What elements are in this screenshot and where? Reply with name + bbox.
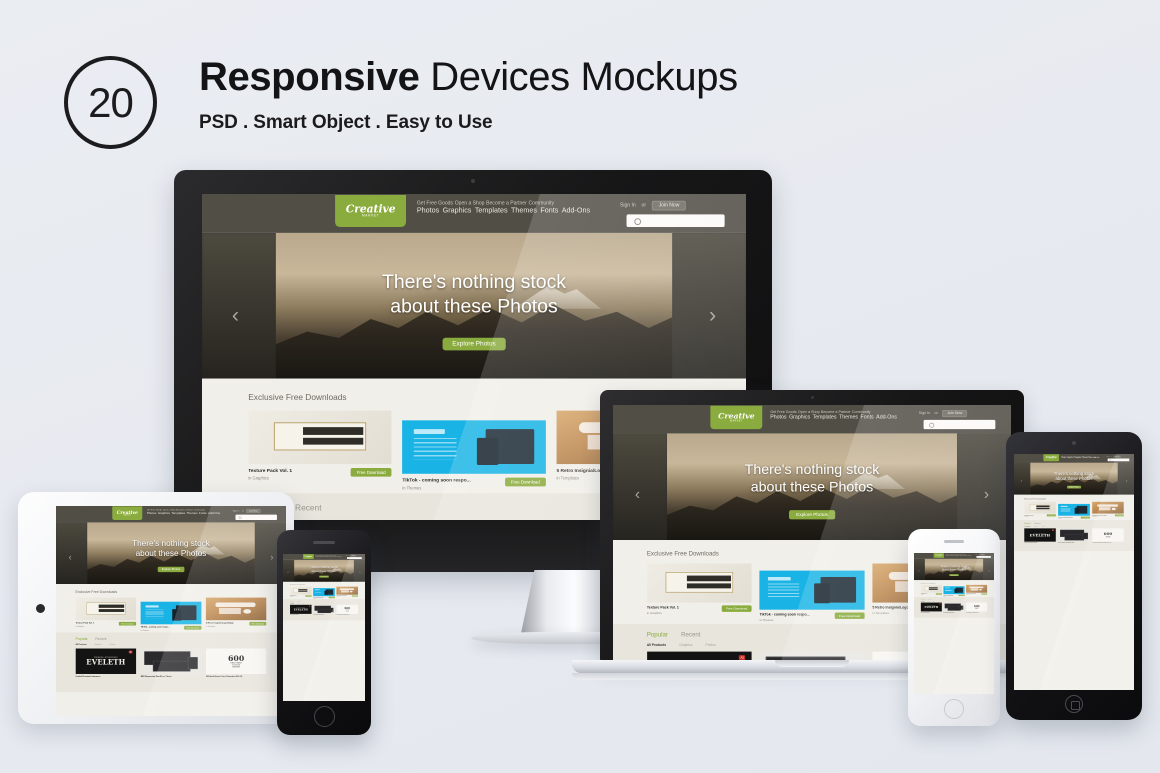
creative-market-logo[interactable]: Creative MARKET: [112, 506, 142, 519]
site-page-iphone-black: Creative MARKET Get Free GoodsOpen a Sho…: [283, 554, 365, 701]
download-card-category: in Themes: [402, 485, 470, 490]
carousel-next-arrow[interactable]: ›: [359, 570, 360, 574]
free-download-button[interactable]: Free Download: [936, 593, 942, 594]
download-card-meta: Texture Pack Vol. 1 in Graphics Free Dow…: [921, 593, 942, 595]
search-input[interactable]: [235, 515, 276, 521]
main-link-2[interactable]: Templates: [171, 511, 185, 515]
main-link-1[interactable]: Graphics: [949, 555, 953, 556]
product-card-title: Eveleth Premium Letterpress: [921, 612, 942, 613]
free-download-button[interactable]: Free Download: [351, 468, 392, 477]
main-link-3[interactable]: Themes: [1082, 457, 1088, 459]
main-link-2[interactable]: Templates: [475, 206, 508, 215]
tiktok-thumb-title: [146, 606, 159, 608]
free-downloads-section: Exclusive Free Downloads Texture Pack Vo…: [921, 582, 987, 596]
main-link-1[interactable]: Graphics: [789, 414, 810, 420]
product-card-title: Eveleth Premium Letterpress: [76, 675, 137, 677]
product-card[interactable]: BRO Responsive WordPress Theme: [1058, 528, 1090, 543]
free-download-button[interactable]: Free Download: [119, 622, 136, 626]
free-download-button[interactable]: Free Download: [959, 595, 965, 596]
main-link-5[interactable]: Add-Ons: [562, 206, 590, 215]
download-card-meta: TikTok - coming soon respo... in Themes …: [402, 478, 545, 490]
free-download-button[interactable]: Free Download: [1081, 517, 1090, 519]
creative-market-logo[interactable]: Creative MARKET: [303, 554, 314, 559]
download-card-meta: Texture Pack Vol. 1 in Graphics Free Dow…: [76, 622, 137, 627]
hero-line-2: about these Photos: [56, 549, 286, 559]
browse-tab-1[interactable]: Recent: [95, 637, 106, 641]
browse-tab-1[interactable]: Recent: [1035, 522, 1041, 524]
page-title-rest: Devices Mockups: [420, 55, 738, 99]
insignia-thumb-amp: [243, 609, 251, 614]
download-card[interactable]: Texture Pack Vol. 1 in Graphics Free Dow…: [921, 585, 942, 597]
main-link-2[interactable]: Templates: [813, 414, 837, 420]
download-card-category: in Graphics: [290, 596, 297, 597]
main-link-1[interactable]: Graphics: [443, 206, 472, 215]
tiktok-thumb-phone: [814, 583, 830, 603]
creative-market-logo[interactable]: Creative MARKET: [711, 406, 763, 429]
main-link-5[interactable]: Add-Ons: [967, 555, 971, 556]
download-card[interactable]: TikTok - coming soon respo... in Themes …: [402, 411, 545, 490]
download-card-name: TikTok - coming soon respo...: [141, 626, 170, 628]
tiktok-thumb-bullets: [315, 591, 321, 594]
product-card-thumb: 600 HAND DRAWNSCURLSSSWASHES: [206, 649, 267, 674]
site-main-links: PhotosGraphicsTemplatesThemesFontsAdd-On…: [147, 511, 213, 515]
hero-banner: There's nothing stock about these Photos…: [914, 559, 994, 580]
download-card-thumb: [76, 598, 137, 621]
free-downloads-section: Exclusive Free Downloads Texture Pack Vo…: [290, 584, 358, 599]
iphone-black-speaker: [313, 541, 335, 544]
download-card-thumb: [921, 585, 942, 593]
tiktok-thumb-bullets: [1061, 508, 1070, 513]
product-card[interactable]: PREMIUM LETTERPRESS EVELETH A2 Eveleth P…: [1024, 528, 1056, 543]
browse-products: PREMIUM LETTERPRESS EVELETH A2 Eveleth P…: [76, 649, 267, 678]
sign-in-link[interactable]: Sign In: [620, 203, 636, 209]
download-card[interactable]: Texture Pack Vol. 1 in Graphics Free Dow…: [290, 587, 312, 599]
download-card[interactable]: TikTok - coming soon respo... in Themes …: [943, 585, 964, 597]
sign-in-link[interactable]: Sign In: [919, 412, 930, 416]
site-body: Exclusive Free Downloads Texture Pack Vo…: [1014, 495, 1134, 551]
browse-filter-2[interactable]: Photos: [706, 643, 716, 647]
download-card-meta: 5 Retro Insignia/Logo Badge in Templates…: [966, 593, 987, 595]
screens-phone: [960, 606, 963, 610]
free-download-button[interactable]: Free Download: [722, 605, 752, 611]
download-card[interactable]: Texture Pack Vol. 1 in Graphics Free Dow…: [1024, 502, 1056, 519]
free-download-button[interactable]: Free Download: [505, 478, 546, 487]
free-downloads-section: Exclusive Free Downloads Texture Pack Vo…: [1024, 498, 1124, 520]
main-link-0[interactable]: Photos: [417, 206, 439, 215]
site-body: Exclusive Free Downloads Texture Pack Vo…: [56, 584, 286, 691]
carousel-prev-arrow[interactable]: ‹: [1021, 478, 1023, 484]
ipad-white: Creative MARKET Get Free GoodsOpen a Sho…: [18, 492, 294, 724]
main-link-1[interactable]: Graphics: [158, 511, 170, 515]
sixhundred-sub: HAND DRAWNSCURLSSSWASHES: [1105, 536, 1111, 539]
main-link-4[interactable]: Fonts: [861, 414, 874, 420]
download-card[interactable]: 5 Retro Insignia/Logo Badge in Templates…: [206, 598, 267, 631]
free-downloads-title: Exclusive Free Downloads: [290, 584, 358, 585]
main-link-4[interactable]: Fonts: [540, 206, 558, 215]
creative-market-logo[interactable]: Creative MARKET: [1043, 454, 1059, 461]
download-card-category: in Themes: [141, 629, 170, 631]
main-link-5[interactable]: Add-Ons: [208, 511, 220, 515]
free-downloads-cards: Texture Pack Vol. 1 in Graphics Free Dow…: [921, 585, 987, 597]
download-card[interactable]: 5 Retro Insignia/Logo Badge in Templates…: [966, 585, 987, 597]
ipad-mini-camera-icon: [1072, 441, 1076, 445]
product-card-thumb: PREMIUM LETTERPRESS EVELETH A2: [76, 649, 137, 674]
main-link-3[interactable]: Themes: [330, 556, 334, 557]
main-link-5[interactable]: Add-Ons: [337, 556, 341, 557]
download-card[interactable]: Texture Pack Vol. 1 in Graphics Free Dow…: [248, 411, 391, 490]
main-link-1[interactable]: Graphics: [319, 556, 323, 557]
free-downloads-title: Exclusive Free Downloads: [76, 590, 267, 594]
hero-banner: There's nothing stock about these Photos…: [613, 433, 1011, 540]
download-card-text: 5 Retro Insignia/Logo Badge in Templates: [1092, 514, 1107, 517]
download-card-name: 5 Retro Insignia/Logo Badge: [206, 622, 234, 624]
carousel-prev-arrow[interactable]: ‹: [918, 569, 919, 573]
main-link-2[interactable]: Templates: [954, 555, 959, 556]
main-link-0[interactable]: Photos: [770, 414, 786, 420]
free-download-button[interactable]: Free Download: [1047, 514, 1056, 516]
ipad-mini-home-button[interactable]: [1065, 695, 1083, 713]
browse-filter-2[interactable]: Photos: [302, 603, 304, 604]
main-link-0[interactable]: Photos: [147, 511, 156, 515]
product-card-thumb: 600 HAND DRAWNSCURLSSSWASHES: [966, 603, 987, 612]
macbook-camera-icon: [811, 396, 814, 399]
join-now-button[interactable]: Join Now: [942, 410, 967, 417]
download-card[interactable]: TikTok - coming soon respo... in Themes …: [1058, 502, 1090, 519]
download-card[interactable]: TikTok - coming soon respo... in Themes …: [760, 563, 865, 621]
main-link-2[interactable]: Templates: [324, 556, 329, 557]
texture-thumb-label2: [303, 437, 363, 444]
product-card-thumb: [141, 649, 202, 674]
browse-tab-1[interactable]: Recent: [297, 601, 301, 602]
iphone-white-home-button[interactable]: [944, 699, 964, 719]
download-card-meta: TikTok - coming soon respo... in Themes …: [141, 626, 202, 631]
browse-tab-0[interactable]: Popular: [290, 601, 294, 602]
browse-products: PREMIUM LETTERPRESS EVELETH A2 Eveleth P…: [921, 603, 987, 613]
iphone-white-speaker: [944, 540, 964, 543]
product-card[interactable]: BRO Responsive WordPress Theme: [943, 603, 964, 613]
free-downloads-cards: Texture Pack Vol. 1 in Graphics Free Dow…: [290, 587, 358, 599]
tiktok-thumb-bullets: [768, 583, 799, 599]
download-card-category: in Graphics: [1024, 516, 1034, 517]
product-card[interactable]: PREMIUM LETTERPRESS EVELETH A2 Eveleth P…: [76, 649, 137, 678]
download-card-thumb: [248, 411, 391, 464]
logo-subword: MARKET: [1049, 458, 1053, 459]
site-auth: Sign In or Join Now: [1106, 456, 1121, 458]
main-link-0[interactable]: Photos: [315, 556, 318, 557]
tiktok-thumb-phone: [1075, 508, 1080, 514]
download-card-text: Texture Pack Vol. 1 in Graphics: [647, 605, 679, 614]
hero-heading: There's nothing stock about these Photos: [1014, 471, 1134, 482]
search-input[interactable]: [1108, 458, 1130, 461]
creative-market-logo[interactable]: Creative MARKET: [335, 195, 406, 227]
carousel-prev-arrow[interactable]: ‹: [288, 570, 289, 574]
hero-heading: There's nothing stock about these Photos: [914, 564, 994, 571]
screens-laptop: [318, 609, 331, 613]
ipad-mini-screen: Creative MARKET Get Free GoodsOpen a Sho…: [1014, 454, 1134, 690]
free-download-button[interactable]: Free Download: [1115, 514, 1124, 516]
hero-banner: There's nothing stock about these Photos…: [1014, 463, 1134, 495]
join-now-button[interactable]: Join Now: [1113, 456, 1121, 458]
browse-filter-0[interactable]: All Products: [76, 644, 87, 646]
creative-market-logo[interactable]: Creative MARKET: [934, 553, 944, 558]
insignia-thumb-amp: [1112, 508, 1116, 510]
download-card-text: Texture Pack Vol. 1 in Graphics: [1024, 514, 1034, 517]
carousel-next-arrow[interactable]: ›: [1126, 478, 1128, 484]
download-card-name: Texture Pack Vol. 1: [76, 622, 95, 624]
browse-tab-1[interactable]: Recent: [928, 598, 932, 599]
main-link-0[interactable]: Photos: [946, 555, 949, 556]
carousel-prev-arrow[interactable]: ‹: [635, 485, 640, 503]
insignia-thumb-box: [341, 590, 349, 592]
screens-phone: [188, 657, 198, 669]
download-card-category: in Templates: [966, 594, 976, 595]
main-link-3[interactable]: Themes: [187, 511, 198, 515]
download-card[interactable]: Texture Pack Vol. 1 in Graphics Free Dow…: [76, 598, 137, 631]
download-card[interactable]: TikTok - coming soon respo... in Themes …: [313, 587, 335, 599]
product-card[interactable]: 600 HAND DRAWNSCURLSSSWASHES 600 Hand Dr…: [336, 605, 358, 615]
download-card-text: 5 Retro Insignia/Logo Badge in Templates: [336, 595, 346, 597]
product-card-thumb: 600 HAND DRAWNSCURLSSSWASHES: [1092, 528, 1124, 541]
free-download-button[interactable]: Free Download: [305, 595, 311, 596]
download-card-thumb: [336, 587, 358, 595]
site-main-links: PhotosGraphicsTemplatesThemesFontsAdd-On…: [1061, 457, 1095, 459]
auth-separator: or: [642, 203, 646, 209]
site-main-links: PhotosGraphicsTemplatesThemesFontsAdd-On…: [417, 206, 573, 215]
carousel-next-arrow[interactable]: ›: [989, 569, 990, 573]
join-now-button[interactable]: Join Now: [652, 201, 686, 211]
auth-separator: or: [242, 510, 244, 512]
download-card-thumb: [1024, 502, 1056, 514]
iphone-black-screen: Creative MARKET Get Free GoodsOpen a Sho…: [283, 554, 365, 701]
download-card-thumb: [290, 587, 312, 595]
free-download-button[interactable]: Free Download: [329, 597, 335, 598]
sign-in-link[interactable]: Sign In: [233, 510, 240, 512]
download-card-thumb: [141, 602, 202, 625]
browse-filter-2[interactable]: Photos: [1042, 526, 1045, 527]
main-link-4[interactable]: Fonts: [1089, 457, 1093, 459]
download-card-category: in Themes: [760, 618, 810, 622]
hero-banner: There's nothing stock about these Photos…: [202, 233, 746, 379]
main-link-4[interactable]: Fonts: [199, 511, 207, 515]
download-card[interactable]: TikTok - coming soon respo... in Themes …: [141, 598, 202, 631]
product-card[interactable]: 600 HAND DRAWNSCURLSSSWASHES 600 Hand Dr…: [206, 649, 267, 678]
browse-tab-0[interactable]: Popular: [647, 631, 668, 638]
download-card-thumb: [1058, 504, 1090, 516]
eveleth-title: EVELETH: [294, 608, 308, 611]
product-card[interactable]: BRO Responsive WordPress Theme: [313, 605, 335, 615]
main-link-3[interactable]: Themes: [959, 555, 963, 556]
insignia-thumb-box: [1099, 507, 1110, 510]
join-now-button[interactable]: Join Now: [246, 509, 261, 513]
search-input[interactable]: [347, 557, 362, 559]
download-card-meta: 5 Retro Insignia/Logo Badge in Templates…: [1092, 514, 1124, 517]
count-badge: 20: [64, 56, 157, 149]
main-link-2[interactable]: Templates: [1074, 457, 1081, 459]
free-download-button[interactable]: Free Download: [835, 613, 865, 619]
hero-heading: There's nothing stock about these Photos: [202, 271, 746, 320]
browse-filters: All ProductsGraphicsPhotos: [290, 603, 358, 604]
download-card-meta: Texture Pack Vol. 1 in Graphics Free Dow…: [1024, 514, 1056, 517]
insignia-thumb-amp: [350, 591, 353, 593]
free-download-button[interactable]: Free Download: [184, 626, 201, 630]
tiktok-thumb-phone: [172, 609, 181, 621]
product-card[interactable]: PREMIUM LETTERPRESS EVELETH A2 Eveleth P…: [290, 605, 312, 615]
free-download-button[interactable]: Free Download: [352, 595, 358, 596]
free-downloads-title: Exclusive Free Downloads: [921, 582, 987, 583]
browse-tab-0[interactable]: Popular: [1024, 522, 1030, 524]
page-subtitle: PSD . Smart Object . Easy to Use: [199, 112, 738, 134]
download-card-meta: Texture Pack Vol. 1 in Graphics Free Dow…: [647, 605, 752, 614]
download-card-meta: 5 Retro Insignia/Logo Badge in Templates…: [336, 595, 358, 597]
download-card[interactable]: Texture Pack Vol. 1 in Graphics Free Dow…: [647, 563, 752, 621]
browse-tab-0[interactable]: Popular: [921, 598, 925, 599]
download-card-thumb: [1092, 502, 1124, 514]
download-card-meta: Texture Pack Vol. 1 in Graphics Free Dow…: [290, 595, 312, 597]
browse-filter-0[interactable]: All Products: [290, 603, 294, 604]
explore-photos-button[interactable]: Explore Photos: [319, 576, 328, 578]
product-card-thumb: [1058, 528, 1090, 541]
ipad-mini-black: Creative MARKET Get Free GoodsOpen a Sho…: [1006, 432, 1142, 720]
browse-tabs: PopularRecent: [1024, 522, 1124, 524]
macbook-notch: [775, 660, 849, 667]
product-card-title: 600 Hand Drawn Curls & Swashes 60% Off: [966, 612, 987, 613]
search-input[interactable]: [976, 556, 990, 558]
carousel-next-arrow[interactable]: ›: [984, 485, 989, 503]
texture-thumb-label2: [1036, 508, 1049, 510]
download-card[interactable]: 5 Retro Insignia/Logo Badge in Templates…: [336, 587, 358, 599]
hero-heading: There's nothing stock about these Photos: [613, 461, 1011, 497]
product-card-title: 600 Hand Drawn Curls & Swashes 60% Off: [336, 614, 358, 615]
product-card[interactable]: PREMIUM LETTERPRESS EVELETH A2 Eveleth P…: [921, 603, 942, 613]
free-download-button[interactable]: Free Download: [981, 593, 987, 594]
screens-laptop: [948, 607, 961, 611]
main-link-3[interactable]: Themes: [511, 206, 537, 215]
site-page-iphone-white: Creative MARKET Get Free GoodsOpen a Sho…: [914, 553, 994, 694]
download-card-text: TikTok - coming soon respo... in Themes: [141, 626, 170, 631]
browse-filter-1[interactable]: Graphics: [679, 643, 692, 647]
texture-thumb-label2: [298, 591, 307, 592]
main-link-0[interactable]: Photos: [1061, 457, 1066, 459]
main-link-5[interactable]: Add-Ons: [1093, 457, 1099, 459]
texture-thumb-label: [687, 575, 731, 581]
carousel-next-arrow[interactable]: ›: [709, 303, 716, 328]
browse-tabs: PopularRecent: [921, 598, 987, 599]
iphone-white: Creative MARKET Get Free GoodsOpen a Sho…: [908, 529, 1000, 726]
carousel-prev-arrow[interactable]: ‹: [232, 303, 239, 328]
product-card[interactable]: BRO Responsive WordPress Theme: [141, 649, 202, 678]
eveleth-badge: A2: [1052, 529, 1054, 530]
site-nav: Creative MARKET Get Free GoodsOpen a Sho…: [1014, 454, 1134, 463]
free-downloads-title: Exclusive Free Downloads: [1024, 498, 1124, 500]
main-link-3[interactable]: Themes: [839, 414, 858, 420]
explore-photos-button[interactable]: Explore Photos: [158, 567, 185, 572]
screens-phone: [330, 608, 333, 612]
browse-band: PopularRecent All ProductsGraphicsPhotos…: [56, 633, 286, 693]
search-input[interactable]: [923, 420, 995, 430]
explore-photos-button[interactable]: Explore Photos: [789, 510, 835, 519]
browse-tab-1[interactable]: Recent: [295, 503, 321, 513]
eveleth-title: EVELETH: [86, 658, 125, 666]
product-card-title: BRO Responsive WordPress Theme: [943, 612, 964, 613]
site-main-links: PhotosGraphicsTemplatesThemesFontsAdd-On…: [770, 414, 884, 420]
main-link-5[interactable]: Add-Ons: [876, 414, 897, 420]
search-input[interactable]: [626, 214, 724, 227]
count-badge-number: 20: [88, 79, 133, 127]
download-card-name: TikTok - coming soon respo...: [760, 613, 810, 617]
download-card-text: Texture Pack Vol. 1 in Graphics: [921, 593, 927, 595]
browse-filters: All ProductsGraphicsPhotos: [921, 601, 987, 602]
product-card-title: Eveleth Premium Letterpress: [290, 614, 312, 615]
browse-band: PopularRecent All ProductsGraphicsPhotos…: [914, 597, 994, 618]
download-card-text: Texture Pack Vol. 1 in Graphics: [248, 468, 292, 480]
hero-line-1: There's nothing stock: [613, 461, 1011, 479]
browse-filter-0[interactable]: All Products: [1024, 526, 1030, 527]
explore-photos-button[interactable]: Explore Photos: [949, 574, 958, 576]
eveleth-title: EVELETH: [925, 606, 939, 609]
sign-in-link[interactable]: Sign In: [1106, 456, 1109, 457]
sixhundred-sub: HAND DRAWNSCURLSSSWASHES: [975, 607, 979, 609]
browse-filter-1[interactable]: Graphics: [297, 603, 300, 604]
carousel-next-arrow[interactable]: ›: [270, 552, 273, 563]
download-card-name: TikTok - coming soon respo...: [402, 478, 470, 484]
ipad-white-home-button[interactable]: [36, 604, 45, 613]
browse-tab-0[interactable]: Popular: [76, 637, 88, 641]
explore-photos-button[interactable]: Explore Photos: [443, 338, 506, 351]
page-title-bold: Responsive: [199, 55, 420, 99]
browse-filter-2[interactable]: Photos: [933, 601, 935, 602]
browse-band: PopularRecent All ProductsGraphicsPhotos…: [283, 599, 365, 620]
product-card[interactable]: 600 HAND DRAWNSCURLSSSWASHES 600 Hand Dr…: [966, 603, 987, 613]
free-download-button[interactable]: Free Download: [249, 622, 266, 626]
main-link-1[interactable]: Graphics: [1067, 457, 1073, 459]
logo-subword: MARKET: [730, 420, 743, 422]
browse-tab-1[interactable]: Recent: [681, 631, 700, 638]
explore-photos-button[interactable]: Explore Photos: [1067, 486, 1081, 489]
browse-filter-1[interactable]: Graphics: [94, 644, 102, 646]
download-card-meta: 5 Retro Insignia/Logo Badge in Templates…: [206, 622, 267, 627]
browse-filter-2[interactable]: Photos: [109, 644, 115, 646]
browse-filter-0[interactable]: All Products: [921, 601, 925, 602]
download-card-category: in Templates: [1092, 516, 1107, 517]
site-page-ipad-white: Creative MARKET Get Free GoodsOpen a Sho…: [56, 506, 286, 716]
auth-separator: or: [935, 412, 938, 416]
texture-thumb-label: [99, 604, 124, 607]
browse-tabs: PopularRecent: [76, 637, 267, 641]
texture-thumb-label: [303, 427, 363, 435]
browse-products: PREMIUM LETTERPRESS EVELETH A2 Eveleth P…: [1024, 528, 1124, 543]
browse-filter-0[interactable]: All Products: [647, 643, 666, 647]
browse-band: PopularRecent All ProductsGraphicsPhotos…: [1014, 520, 1134, 551]
download-card-thumb: [402, 420, 545, 473]
screens-phone: [1083, 533, 1088, 539]
browse-section: PopularRecent All ProductsGraphicsPhotos…: [921, 598, 987, 612]
hero-line-1: There's nothing stock: [56, 538, 286, 548]
download-card-category: in Graphics: [921, 594, 927, 595]
carousel-prev-arrow[interactable]: ‹: [69, 552, 72, 563]
browse-filter-1[interactable]: Graphics: [927, 601, 930, 602]
browse-filter-1[interactable]: Graphics: [1034, 526, 1038, 527]
download-card-thumb: [647, 563, 752, 602]
sixhundred-sub: HAND DRAWNSCURLSSSWASHES: [231, 662, 242, 668]
insignia-thumb-banner: [216, 603, 256, 608]
product-card[interactable]: 600 HAND DRAWNSCURLSSSWASHES 600 Hand Dr…: [1092, 528, 1124, 543]
hero-banner: There's nothing stock about these Photos…: [283, 560, 365, 582]
download-card[interactable]: 5 Retro Insignia/Logo Badge in Templates…: [1092, 502, 1124, 519]
product-card-thumb: 600 HAND DRAWNSCURLSSSWASHES: [336, 605, 358, 614]
tiktok-thumb-phone: [324, 591, 327, 595]
download-card-category: in Templates: [206, 625, 234, 627]
iphone-black-home-button[interactable]: [314, 706, 335, 727]
